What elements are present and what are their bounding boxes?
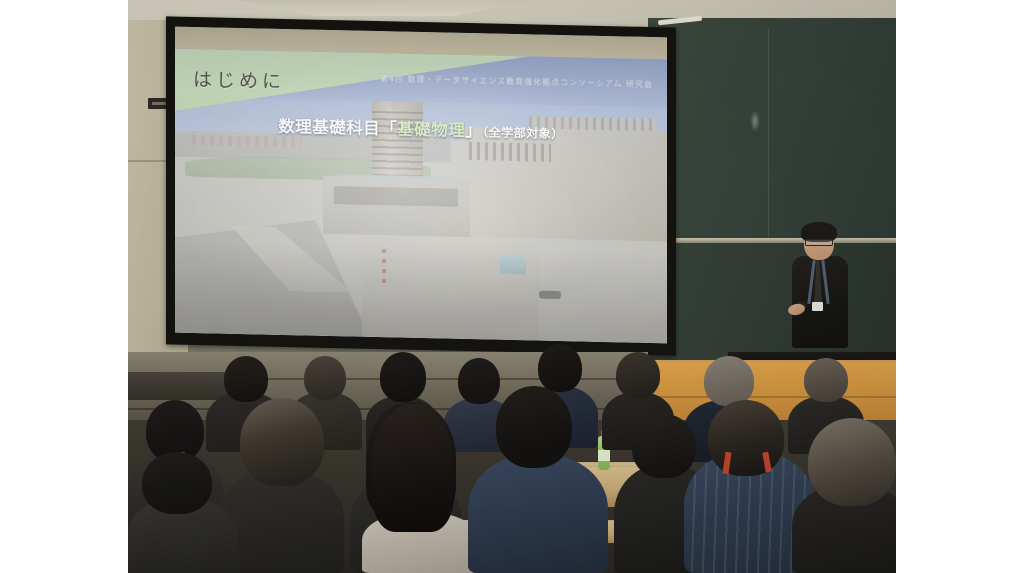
photo-car [539,291,561,299]
audience-head [380,352,426,402]
audience-head [224,356,268,402]
chalkboard-smudge [750,110,760,132]
audience-head [304,356,346,400]
slide-headline-prefix: 数理基礎科目「 [278,117,397,139]
audience-head [458,358,500,404]
audience-head-greying [240,398,324,486]
audience-navy-jacket [468,454,608,573]
audience-head [804,358,848,402]
audience-head [708,400,784,476]
presenter-name-badge [812,302,823,311]
glasses-icon [805,239,833,246]
lecture-hall-scene: はじめに 第4回 数理・データサイエンス教育強化拠点コンソーシアム 研究会 数理… [128,0,896,573]
ceiling-panel-seam [238,0,538,16]
audience-long-hair-front [372,404,454,532]
audience-head-greying [808,418,896,506]
slide-headline-suffix: 」 [465,121,482,140]
front-desk-seam [648,396,896,398]
audience-head [538,344,582,392]
photograph-letterbox: はじめに 第4回 数理・データサイエンス教育強化拠点コンソーシアム 研究会 数理… [0,0,1024,573]
audience-head [616,352,660,398]
photo-mid-building [323,176,471,237]
photo-red-markers [382,249,386,283]
presenter-standing [780,222,872,358]
slide-headline-paren: （全学部対象） [482,125,564,141]
bottle-label [598,450,610,461]
slide-headline-emphasis: 基礎物理 [397,119,465,139]
chalkboard-seam [768,28,769,238]
audience-head [496,386,572,468]
projection-screen-frame: はじめに 第4回 数理・データサイエンス教育強化拠点コンソーシアム 研究会 数理… [166,16,676,355]
audience-head-bald [704,356,754,406]
audience-head [142,452,212,514]
projection-screen-surface: はじめに 第4回 数理・データサイエンス教育強化拠点コンソーシアム 研究会 数理… [175,27,667,344]
photo-teal-structure [500,256,526,275]
presentation-slide: はじめに 第4回 数理・データサイエンス教育強化拠点コンソーシアム 研究会 数理… [175,49,667,344]
slide-banner-title: はじめに [193,65,285,94]
audience-head [632,414,696,478]
